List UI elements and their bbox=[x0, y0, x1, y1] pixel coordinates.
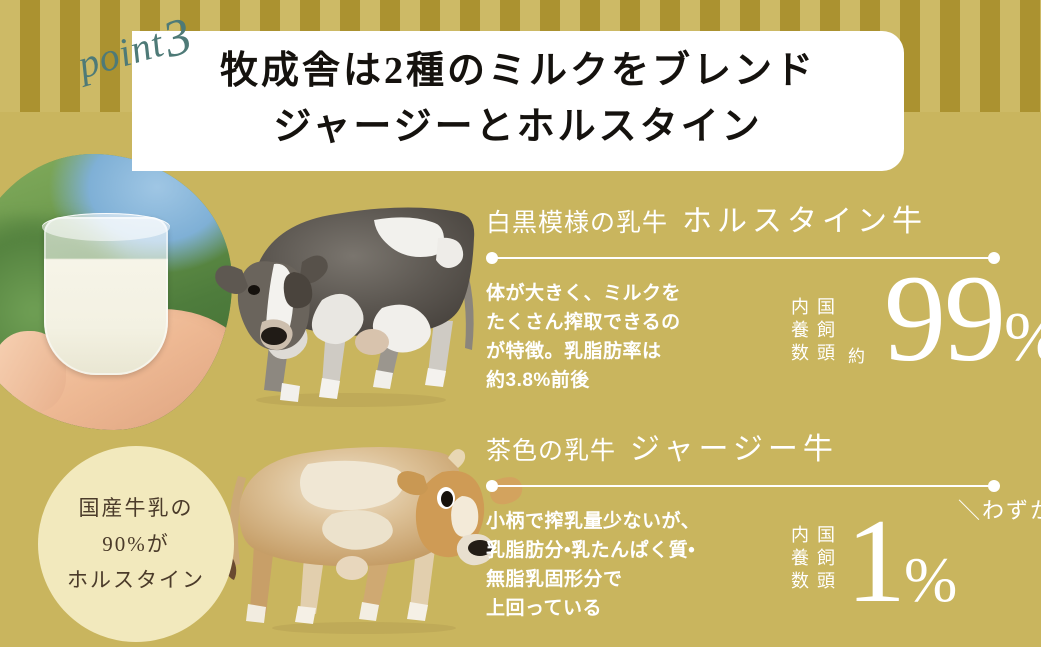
holstein-unit: % bbox=[1004, 299, 1041, 376]
jersey-breed: ジャージー牛 bbox=[630, 433, 838, 466]
holstein-cow-icon bbox=[176, 178, 506, 423]
holstein-info-block: 白黒模様の乳牛ホルスタイン牛 体が大きく、ミルクを たくさん搾取できるの が特徴… bbox=[486, 196, 1016, 395]
jersey-number: 1 bbox=[846, 494, 904, 627]
holstein-approx: 約 bbox=[848, 342, 866, 367]
jersey-body: 小柄で搾乳量少ないが、 乳脂肪分•乳たんぱく質• 無脂乳固形分で 上回っている … bbox=[486, 507, 1016, 623]
jersey-stat: ＼わずか／ 1% 未満 bbox=[846, 501, 957, 621]
stat-label-col-2: 内養数 bbox=[786, 297, 812, 366]
stat-label-col-2: 内養数 bbox=[786, 525, 812, 594]
divider-dot-right bbox=[988, 480, 1000, 492]
stat-label-col-1: 国飼頭 bbox=[812, 297, 838, 366]
holstein-number: 99 bbox=[884, 250, 1004, 387]
jersey-heading: 茶色の乳牛ジャージー牛 bbox=[486, 424, 1016, 468]
holstein-lead: 白黒模様の乳牛 bbox=[486, 210, 668, 237]
divider-line bbox=[490, 485, 996, 487]
holstein-stat-label: 国飼頭 内養数 bbox=[786, 297, 838, 366]
photo-milk-glass bbox=[44, 217, 167, 374]
jersey-value: 1% bbox=[846, 501, 957, 621]
jersey-divider bbox=[486, 479, 1000, 493]
jersey-unit: % bbox=[904, 544, 957, 615]
jersey-cow-icon bbox=[196, 432, 526, 647]
stat-label-col-1: 国飼頭 bbox=[812, 525, 838, 594]
jersey-lead: 茶色の乳牛 bbox=[486, 438, 616, 465]
holstein-description: 体が大きく、ミルクを たくさん搾取できるの が特徴。乳脂肪率は 約3.8%前後 bbox=[486, 279, 786, 395]
holstein-body: 体が大きく、ミルクを たくさん搾取できるの が特徴。乳脂肪率は 約3.8%前後 … bbox=[486, 279, 1016, 395]
holstein-breed: ホルスタイン牛 bbox=[682, 205, 927, 238]
domestic-share-badge: 国産牛乳の 90%が ホルスタイン bbox=[38, 446, 234, 642]
holstein-stat: 約 99% bbox=[840, 257, 1041, 381]
holstein-heading: 白黒模様の乳牛ホルスタイン牛 bbox=[486, 196, 1016, 240]
jersey-stat-label: 国飼頭 内養数 bbox=[786, 525, 838, 594]
jersey-description: 小柄で搾乳量少ないが、 乳脂肪分•乳たんぱく質• 無脂乳固形分で 上回っている bbox=[486, 507, 786, 623]
photo-glass-rim bbox=[42, 213, 171, 241]
holstein-value: 99% bbox=[840, 257, 1041, 381]
jersey-note: ＼わずか／ bbox=[958, 493, 1041, 525]
jersey-info-block: 茶色の乳牛ジャージー牛 小柄で搾乳量少ないが、 乳脂肪分•乳たんぱく質• 無脂乳… bbox=[486, 424, 1016, 623]
infographic-page: 牧成舎は2種のミルクをブレンド ジャージーとホルスタイン point3 白黒模様… bbox=[0, 0, 1041, 647]
